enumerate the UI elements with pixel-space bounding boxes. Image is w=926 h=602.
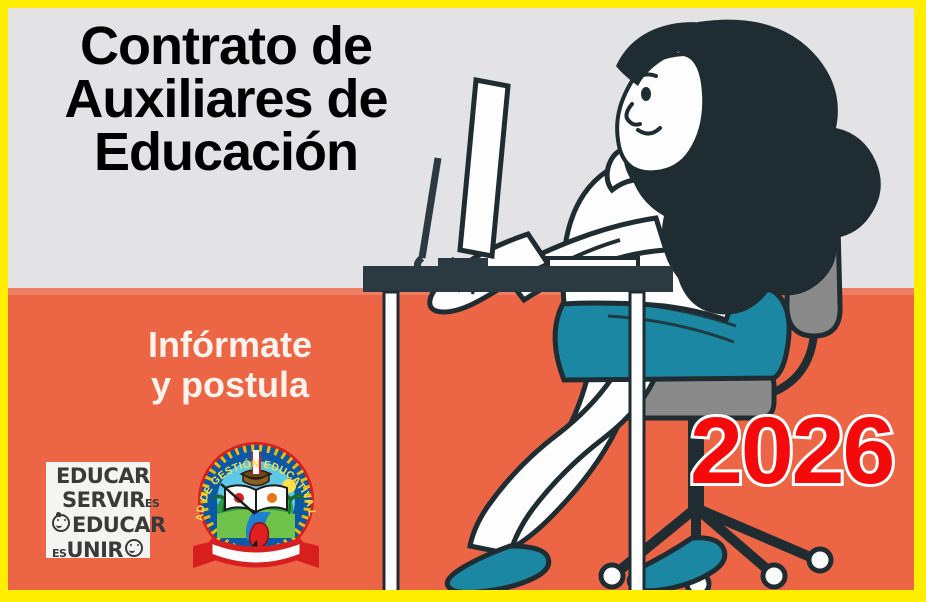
educar-logo-line-2-small: ES xyxy=(145,498,159,509)
educar-logo: EDUCAR SERVIR ES EDUCAR ES UNIR xyxy=(46,462,150,558)
year-badge: 2026 xyxy=(690,404,893,499)
frame-border-bottom xyxy=(0,590,926,602)
monitor-screen xyxy=(460,80,508,256)
page-title: Contrato de Auxiliares de Educación xyxy=(16,20,436,179)
headline-line-2: Auxiliares de xyxy=(16,73,436,126)
educar-logo-line-4-small: ES xyxy=(52,548,66,559)
emblem-book-motif-right xyxy=(267,493,277,503)
frame-border-right xyxy=(914,0,926,602)
desk-leg-left xyxy=(384,292,398,590)
poster-root: Contrato de Auxiliares de Educación Infó… xyxy=(0,0,926,602)
desk-top xyxy=(363,266,673,292)
smiley-face-icon-right xyxy=(125,539,143,557)
woman-shoe-front xyxy=(447,546,548,590)
woman-eye xyxy=(641,87,651,101)
educar-logo-line-4-main: UNIR xyxy=(66,540,123,561)
desk-leg-right xyxy=(630,292,644,590)
ugel-emblem: UNIDAD DE GESTIÓN EDUCATIVA LOCAL xyxy=(185,428,327,574)
subheadline-line-2: y postula xyxy=(80,365,380,405)
headline-line-1: Contrato de xyxy=(16,20,436,73)
headline-line-3: Educación xyxy=(16,126,436,179)
subheadline-line-1: Infórmate xyxy=(80,325,380,365)
frame-border-top xyxy=(0,0,926,8)
educar-logo-line-2-main: SERVIR xyxy=(62,490,145,511)
woman-leg-front xyxy=(470,358,654,554)
frame-border-left xyxy=(0,0,8,602)
subheadline: Infórmate y postula xyxy=(80,325,380,404)
smiley-face-icon-left xyxy=(52,514,70,532)
educar-logo-line-3-main: EDUCAR xyxy=(72,515,166,536)
educar-logo-line-1: EDUCAR xyxy=(56,466,150,487)
